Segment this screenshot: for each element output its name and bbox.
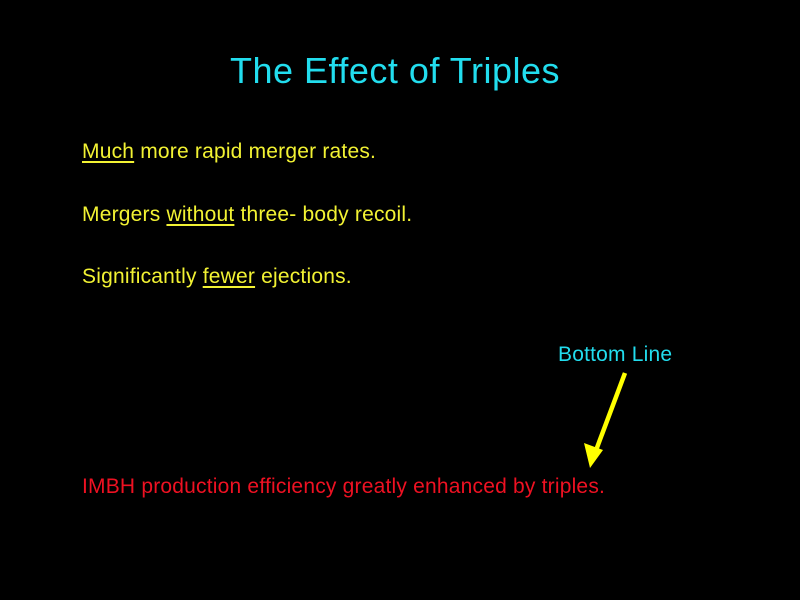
slide-title: The Effect of Triples bbox=[0, 50, 790, 92]
bullet-line-3-emphasis: fewer bbox=[203, 265, 255, 288]
bullet-line-2-lead: Mergers bbox=[82, 203, 166, 226]
bullet-line-1-emphasis: Much bbox=[82, 140, 134, 163]
bullet-line-3-lead: Significantly bbox=[82, 265, 203, 288]
bullet-line-2-emphasis: without bbox=[166, 203, 234, 226]
bullet-line-2-rest: three- body recoil. bbox=[234, 203, 412, 226]
bullet-line-2: Mergers without three- body recoil. bbox=[82, 203, 412, 227]
bullet-line-3: Significantly fewer ejections. bbox=[82, 265, 352, 289]
callout-arrow-icon bbox=[565, 365, 645, 475]
bullet-line-1: Much more rapid merger rates. bbox=[82, 140, 376, 164]
conclusion-statement: IMBH production efficiency greatly enhan… bbox=[82, 475, 605, 499]
presentation-slide: The Effect of Triples Much more rapid me… bbox=[0, 0, 800, 600]
bullet-line-3-rest: ejections. bbox=[255, 265, 352, 288]
callout-label: Bottom Line bbox=[558, 343, 672, 367]
bullet-line-1-rest: more rapid merger rates. bbox=[134, 140, 376, 163]
